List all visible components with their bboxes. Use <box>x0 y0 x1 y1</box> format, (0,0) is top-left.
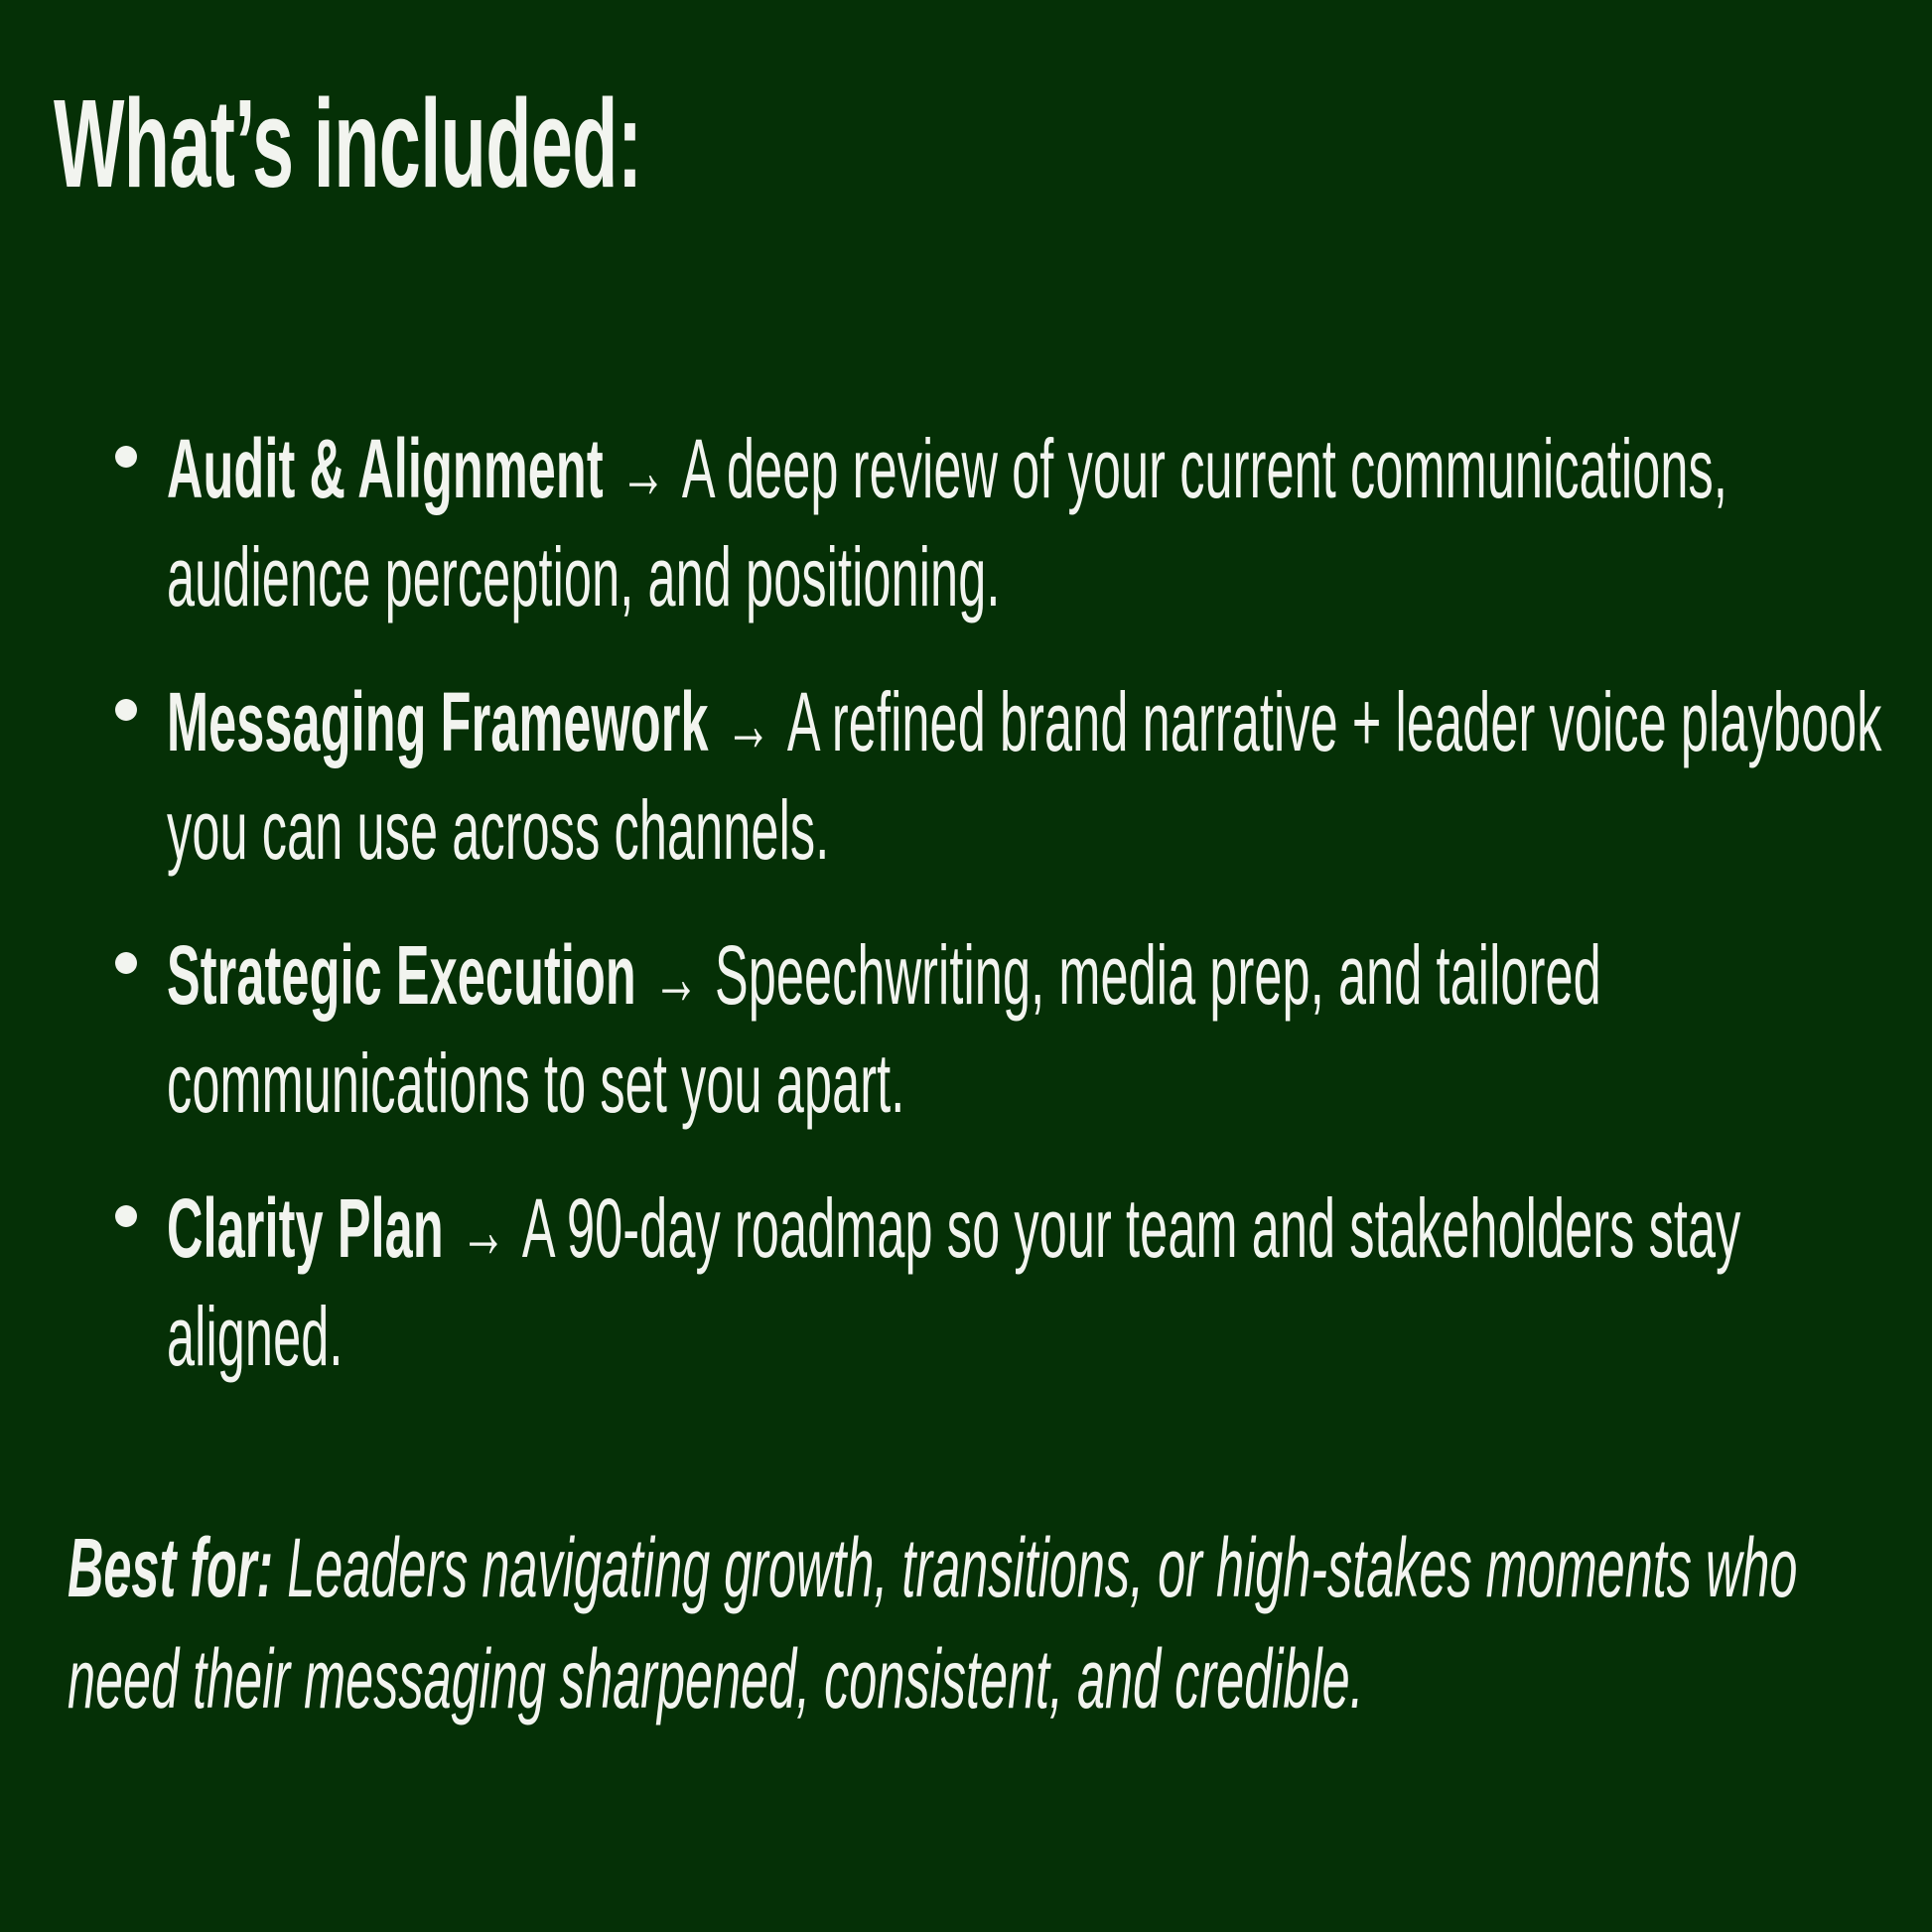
bullet-dot-icon <box>115 446 137 468</box>
arrow-right-icon: → <box>458 1188 522 1274</box>
bullet-dot-icon <box>115 699 137 721</box>
list-item-text: Audit & Alignment → A deep review of you… <box>167 415 1882 631</box>
slide-canvas: What’s included: Audit & Alignment → A d… <box>0 0 1932 1932</box>
list-item: Messaging Framework → A refined brand na… <box>0 668 1932 921</box>
best-for-paragraph: Best for: Leaders navigating growth, tra… <box>68 1513 1819 1734</box>
list-item: Strategic Execution → Speechwriting, med… <box>0 921 1932 1174</box>
page-title: What’s included: <box>54 81 641 207</box>
list-item-lead: Clarity Plan <box>167 1181 458 1275</box>
bullet-dot-icon <box>115 952 137 974</box>
list-item-text: Messaging Framework → A refined brand na… <box>167 668 1882 885</box>
arrow-right-icon: → <box>618 429 682 514</box>
list-item-text: Strategic Execution → Speechwriting, med… <box>167 921 1882 1138</box>
list-item-lead: Messaging Framework <box>167 675 723 768</box>
arrow-right-icon: → <box>650 935 715 1021</box>
included-list: Audit & Alignment → A deep review of you… <box>0 415 1932 1428</box>
arrow-right-icon: → <box>723 682 787 767</box>
list-item: Clarity Plan → A 90-day roadmap so your … <box>0 1174 1932 1428</box>
bullet-dot-icon <box>115 1205 137 1227</box>
best-for-lead: Best for: <box>68 1521 287 1614</box>
list-item-text: Clarity Plan → A 90-day roadmap so your … <box>167 1174 1882 1391</box>
list-item: Audit & Alignment → A deep review of you… <box>0 415 1932 668</box>
best-for-body: Leaders navigating growth, transitions, … <box>68 1521 1797 1725</box>
list-item-lead: Audit & Alignment <box>167 422 618 515</box>
list-item-lead: Strategic Execution <box>167 928 650 1022</box>
